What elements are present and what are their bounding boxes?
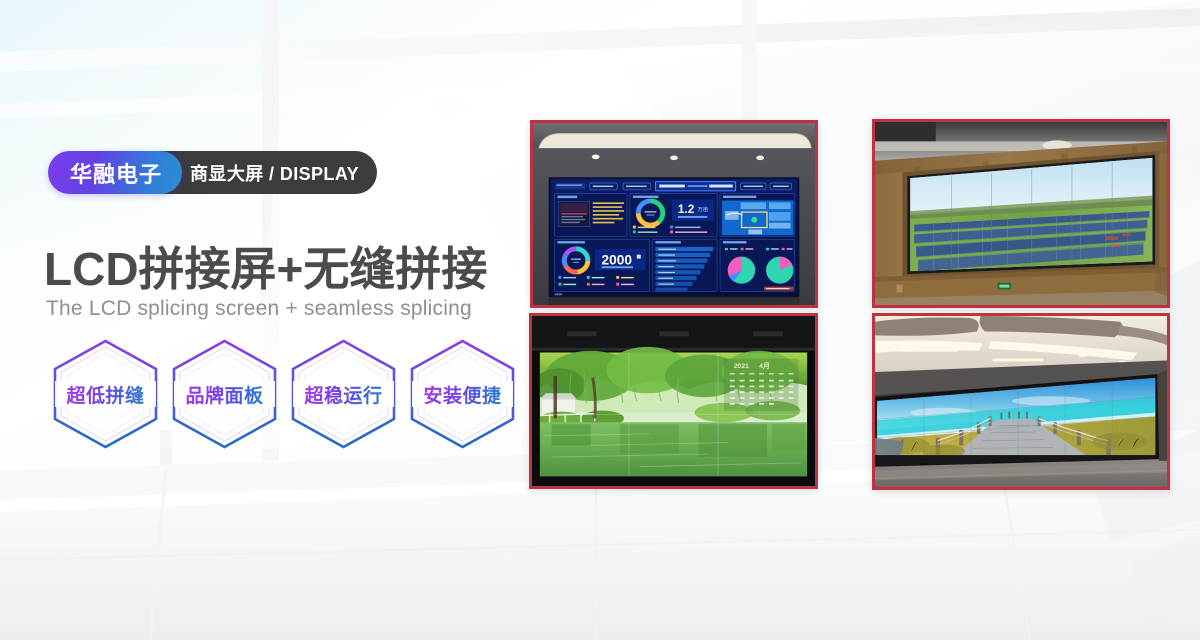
photo-beach-boardwalk-video-wall	[872, 313, 1170, 490]
feature-label: 超稳运行	[304, 381, 382, 408]
brand-category: 商显大屏 / DISPLAY	[156, 151, 377, 194]
photo-solar-farm-video-wall	[872, 119, 1170, 308]
brand-badge: 华融电子 商显大屏 / DISPLAY	[48, 151, 377, 194]
feature-label: 安装便捷	[423, 381, 501, 408]
feature-label: 超低拼缝	[66, 381, 144, 408]
feature-list: 超低拼缝 品牌面板	[46, 338, 522, 450]
feature-label: 品牌面板	[185, 381, 263, 408]
photo-dashboard-video-wall: 1.2 万亩	[530, 120, 818, 308]
brand-name: 华融电子	[48, 151, 182, 194]
page-title: LCD拼接屏+无缝拼接	[44, 233, 487, 299]
photo-lake-landscape-video-wall: 2021 4月	[529, 313, 818, 489]
feature-hex-1: 超低拼缝	[46, 338, 165, 450]
svg-text:4月: 4月	[759, 362, 770, 370]
svg-text:2021: 2021	[734, 363, 749, 370]
svg-text:2000: 2000	[602, 252, 633, 267]
svg-text:万亩: 万亩	[698, 205, 709, 213]
page-subtitle: The LCD splicing screen + seamless splic…	[46, 297, 472, 321]
feature-hex-2: 品牌面板	[165, 338, 284, 450]
feature-hex-3: 超稳运行	[284, 338, 403, 450]
feature-hex-4: 安装便捷	[403, 338, 522, 450]
product-banner: 华融电子 商显大屏 / DISPLAY LCD拼接屏+无缝拼接 The LCD …	[0, 0, 1200, 640]
svg-text:1.2: 1.2	[678, 203, 695, 216]
